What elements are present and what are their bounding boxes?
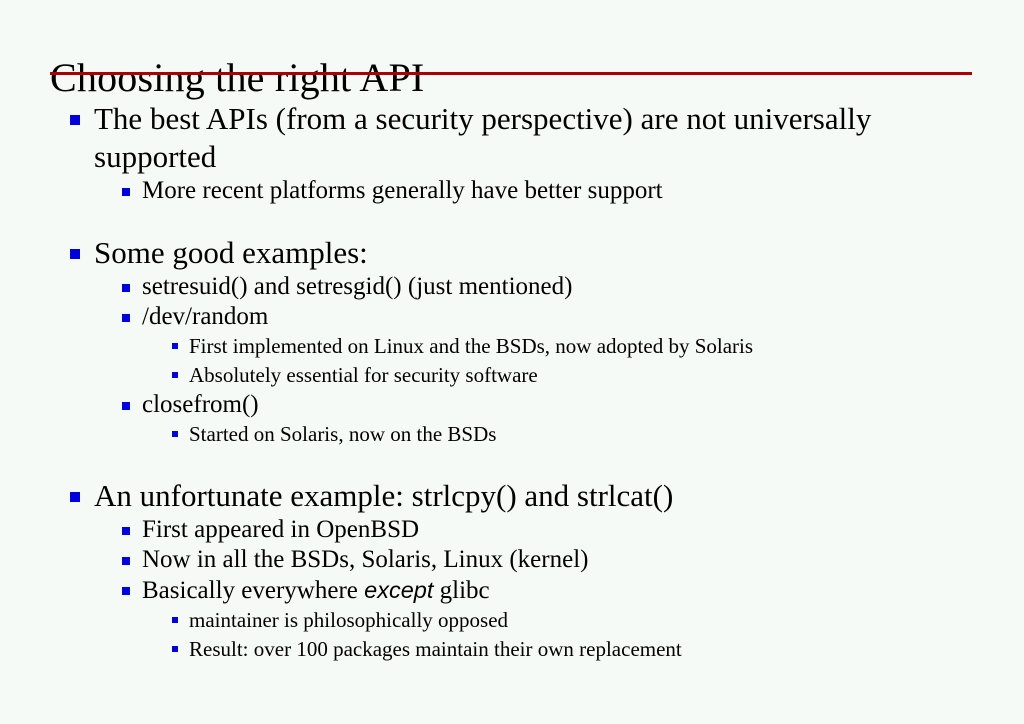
bullet-square-icon — [122, 557, 130, 565]
bullet-text: First appeared in OpenBSD — [142, 515, 1024, 545]
bullet-text: closefrom() — [142, 390, 1024, 420]
bullet-text: Basically everywhere except glibc — [142, 575, 1024, 606]
bullet-text-suffix: glibc — [433, 577, 489, 604]
bullet-level3-absolutely-essential: Absolutely essential for security softwa… — [168, 361, 1024, 390]
spacer — [0, 206, 1024, 234]
slide-root: { "slide": { "title": "Choosing the righ… — [0, 0, 1024, 724]
bullet-square-icon — [122, 527, 130, 535]
bullet-level2-openbsd: First appeared in OpenBSD — [118, 515, 1024, 545]
bullet-text: Some good examples: — [94, 234, 894, 272]
bullet-square-icon — [172, 343, 178, 349]
bullet-level3-result-packages: Result: over 100 packages maintain their… — [168, 635, 1024, 664]
title-underline-rule — [50, 72, 972, 75]
bullet-text: Now in all the BSDs, Solaris, Linux (ker… — [142, 545, 1024, 575]
bullet-square-icon — [122, 188, 130, 196]
bullet-text-emphasis: except — [364, 577, 433, 603]
bullet-text: More recent platforms generally have bet… — [142, 176, 1024, 206]
bullet-square-icon — [172, 372, 178, 378]
bullet-text: An unfortunate example: strlcpy() and st… — [94, 477, 894, 515]
bullet-text: Result: over 100 packages maintain their… — [189, 635, 1024, 664]
slide-content: The best APIs (from a security perspecti… — [0, 100, 1024, 664]
bullet-level3-first-implemented: First implemented on Linux and the BSDs,… — [168, 332, 909, 361]
bullet-level1-best-apis: The best APIs (from a security perspecti… — [68, 100, 1024, 176]
bullet-square-icon — [172, 646, 178, 652]
bullet-level2-except-glibc: Basically everywhere except glibc — [118, 575, 1024, 606]
bullet-level1-unfortunate-example: An unfortunate example: strlcpy() and st… — [68, 477, 1024, 515]
bullet-square-icon — [70, 249, 80, 259]
bullet-square-icon — [172, 617, 178, 623]
bullet-text: First implemented on Linux and the BSDs,… — [189, 332, 909, 361]
bullet-text: Absolutely essential for security softwa… — [189, 361, 1024, 390]
bullet-square-icon — [172, 431, 178, 437]
bullet-square-icon — [70, 492, 80, 502]
bullet-level3-started-solaris: Started on Solaris, now on the BSDs — [168, 420, 1024, 449]
bullet-level2-all-bsds: Now in all the BSDs, Solaris, Linux (ker… — [118, 545, 1024, 575]
bullet-level2-closefrom: closefrom() — [118, 390, 1024, 420]
bullet-text: /dev/random — [142, 302, 1024, 332]
bullet-square-icon — [122, 587, 130, 595]
bullet-level2-dev-random: /dev/random — [118, 302, 1024, 332]
bullet-square-icon — [122, 284, 130, 292]
bullet-text: maintainer is philosophically opposed — [189, 606, 1024, 635]
bullet-level3-maintainer-opposed: maintainer is philosophically opposed — [168, 606, 1024, 635]
bullet-text-prefix: Basically everywhere — [142, 577, 364, 604]
bullet-square-icon — [122, 314, 130, 322]
bullet-square-icon — [122, 402, 130, 410]
bullet-level2-recent-platforms: More recent platforms generally have bet… — [118, 176, 1024, 206]
bullet-square-icon — [70, 115, 80, 125]
bullet-text: The best APIs (from a security perspecti… — [94, 100, 894, 176]
spacer — [0, 449, 1024, 477]
page-title: Choosing the right API — [50, 55, 424, 101]
bullet-level1-good-examples: Some good examples: — [68, 234, 1024, 272]
bullet-level2-setresuid: setresuid() and setresgid() (just mentio… — [118, 272, 1024, 302]
bullet-text: Started on Solaris, now on the BSDs — [189, 420, 1024, 449]
bullet-text: setresuid() and setresgid() (just mentio… — [142, 272, 1024, 302]
